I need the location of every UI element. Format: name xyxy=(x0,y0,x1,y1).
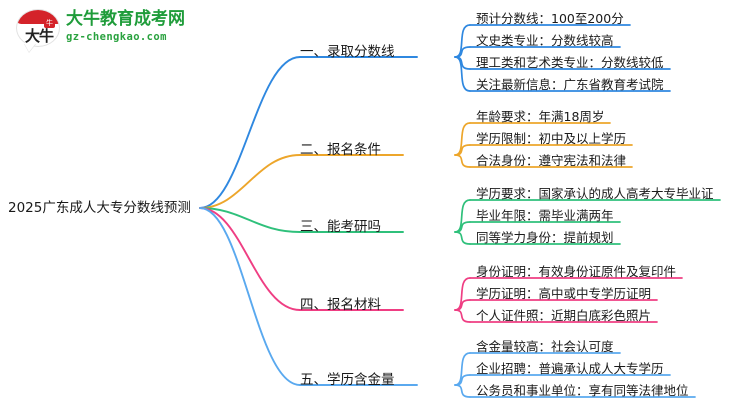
leaf-label-3-3[interactable]: 同等学力身份：提前规划 xyxy=(476,227,614,246)
leaf-label-5-1[interactable]: 含金量较高：社会认可度 xyxy=(476,336,614,355)
leaf-label-1-1[interactable]: 预计分数线：100至200分 xyxy=(476,8,624,27)
leaf-label-3-2[interactable]: 毕业年限：需毕业满两年 xyxy=(476,205,614,224)
branch-label-3[interactable]: 三、能考研吗 xyxy=(300,215,381,235)
leaf-label-3-1[interactable]: 学历要求：国家承认的成人高考大专毕业证 xyxy=(476,183,714,202)
logo-mark-icon: 大牛 牛 xyxy=(14,8,62,54)
site-logo: 大牛 牛 大牛教育成考网 gz-chengkao.com xyxy=(10,6,190,58)
leaf-label-4-2[interactable]: 学历证明：高中或中专学历证明 xyxy=(476,283,651,302)
leaf-label-2-1[interactable]: 年龄要求：年满18周岁 xyxy=(476,106,604,125)
leaf-label-5-2[interactable]: 企业招聘：普遍承认成人大专学历 xyxy=(476,358,664,377)
site-name: 大牛教育成考网 xyxy=(66,9,190,29)
leaf-label-5-3[interactable]: 公务员和事业单位：享有同等法律地位 xyxy=(476,380,689,399)
site-url: gz-chengkao.com xyxy=(66,30,190,44)
logo-text-block: 大牛教育成考网 gz-chengkao.com xyxy=(66,9,190,44)
leaf-label-2-3[interactable]: 合法身份：遵守宪法和法律 xyxy=(476,150,626,169)
speech-bubble-icon: 大牛 牛 xyxy=(16,9,60,47)
root-node[interactable]: 2025广东成人大专分数线预测 xyxy=(8,196,191,216)
branch-label-5[interactable]: 五、学历含金量 xyxy=(300,368,395,388)
mindmap-canvas: 大牛 牛 大牛教育成考网 gz-chengkao.com 2025广东成人大专分… xyxy=(0,0,750,410)
leaf-label-4-1[interactable]: 身份证明：有效身份证原件及复印件 xyxy=(476,261,676,280)
branch-label-1[interactable]: 一、录取分数线 xyxy=(300,40,395,60)
branch-label-4[interactable]: 四、报名材料 xyxy=(300,293,381,313)
logo-seal-icon: 牛 xyxy=(44,17,55,28)
leaf-label-1-4[interactable]: 关注最新信息：广东省教育考试院 xyxy=(476,74,664,93)
branch-label-2[interactable]: 二、报名条件 xyxy=(300,138,381,158)
leaf-label-2-2[interactable]: 学历限制：初中及以上学历 xyxy=(476,128,626,147)
leaf-label-1-3[interactable]: 理工类和艺术类专业：分数线较低 xyxy=(476,52,664,71)
leaf-label-1-2[interactable]: 文史类专业：分数线较高 xyxy=(476,30,614,49)
bubble-tail-icon xyxy=(24,43,36,52)
leaf-label-4-3[interactable]: 个人证件照：近期白底彩色照片 xyxy=(476,305,651,324)
